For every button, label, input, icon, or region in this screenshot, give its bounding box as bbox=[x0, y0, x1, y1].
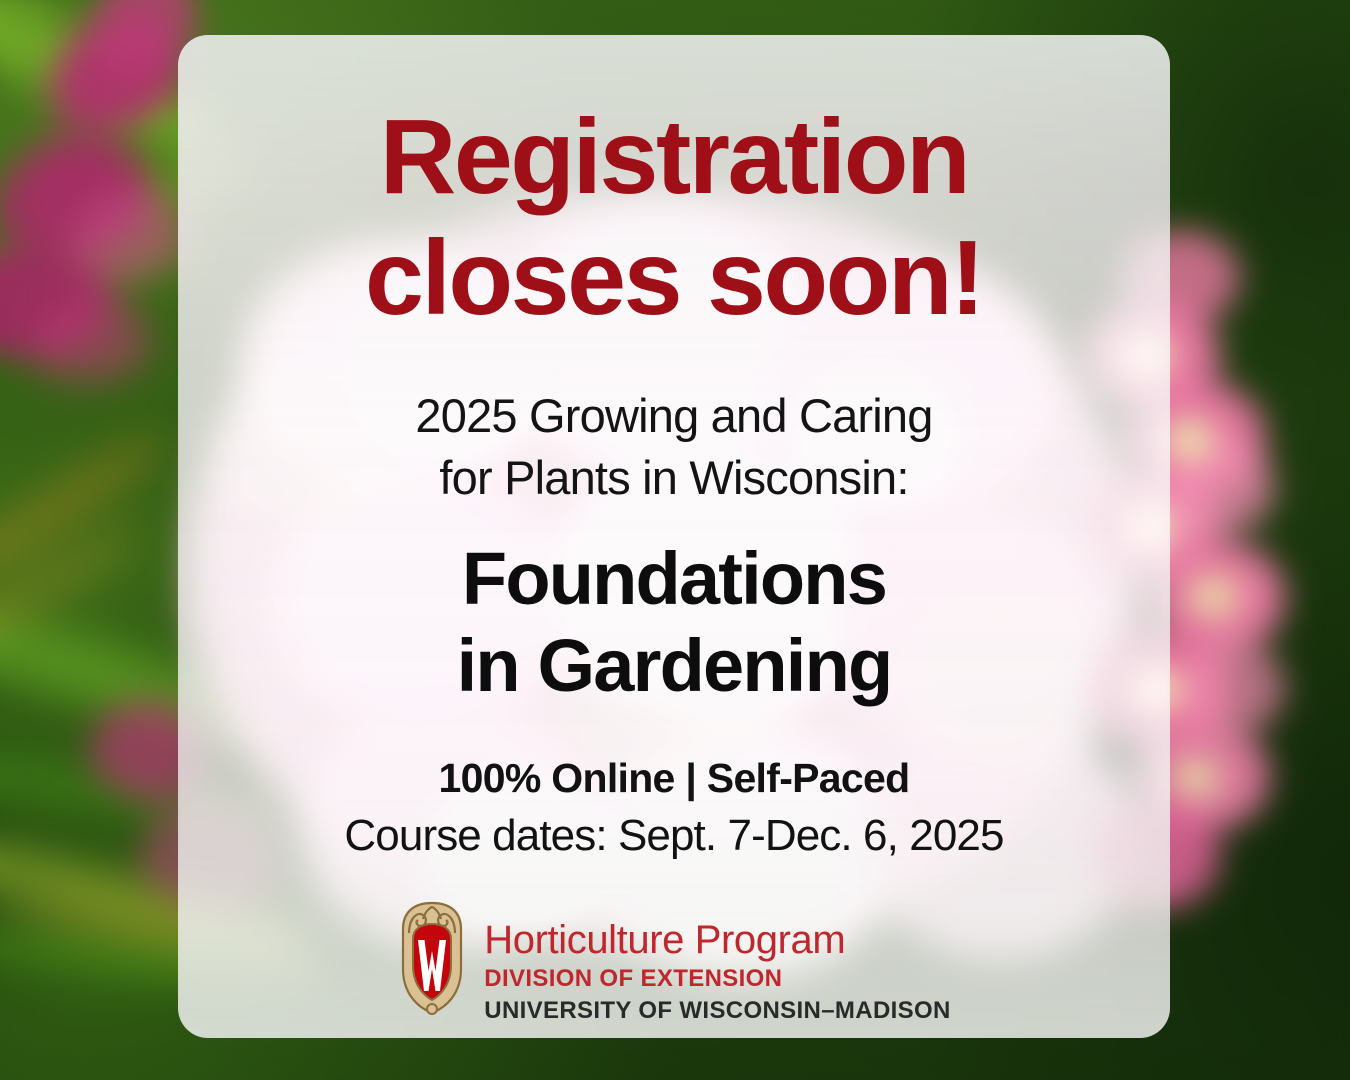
course-series-subtitle: 2025 Growing and Caring for Plants in Wi… bbox=[415, 339, 932, 509]
promo-poster: Registration closes soon! 2025 Growing a… bbox=[0, 0, 1350, 1080]
uw-extension-logo: Horticulture Program DIVISION OF EXTENSI… bbox=[178, 897, 1170, 1026]
content-card: Registration closes soon! 2025 Growing a… bbox=[178, 35, 1170, 1038]
course-dates: Course dates: Sept. 7-Dec. 6, 2025 bbox=[344, 803, 1003, 863]
logo-wordmark: Horticulture Program DIVISION OF EXTENSI… bbox=[484, 897, 950, 1026]
logo-program-name: Horticulture Program bbox=[484, 920, 950, 960]
logo-division-name: DIVISION OF EXTENSION bbox=[484, 960, 950, 993]
headline: Registration closes soon! bbox=[365, 35, 983, 339]
course-title: Foundations in Gardening bbox=[457, 509, 892, 710]
uw-crest-icon bbox=[397, 899, 467, 1022]
logo-university-name: UNIVERSITY OF WISCONSIN–MADISON bbox=[484, 993, 950, 1025]
course-format: 100% Online | Self-Paced bbox=[439, 709, 910, 803]
